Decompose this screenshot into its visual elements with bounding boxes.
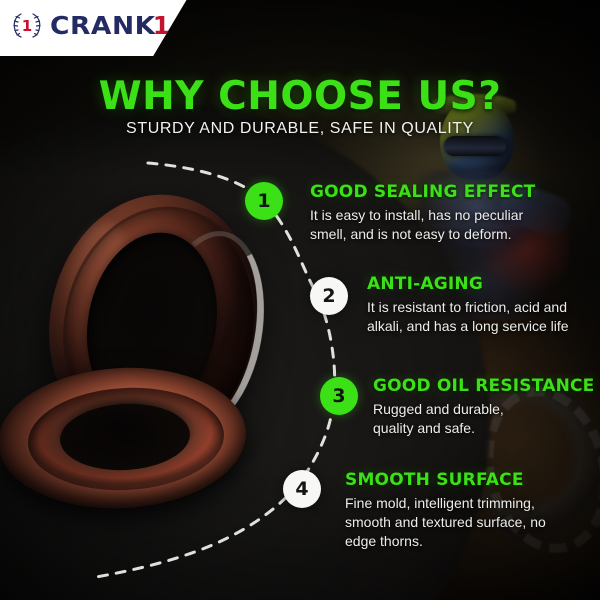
- feature-body-2: It is resistant to friction, acid and al…: [367, 298, 589, 336]
- feature-badge-2[interactable]: 2: [310, 277, 348, 315]
- feature-body-4: Fine mold, intelligent trimming, smooth …: [345, 494, 590, 551]
- brand-name: CRANK: [50, 13, 156, 38]
- page-title: WHY CHOOSE US?: [0, 74, 600, 119]
- feature-number-2: 2: [322, 287, 335, 306]
- feature-body-1: It is easy to install, has no peculiar s…: [310, 206, 580, 244]
- feature-item-4: SMOOTH SURFACE Fine mold, intelligent tr…: [345, 470, 590, 551]
- feature-title-3: GOOD OIL RESISTANCE: [373, 376, 591, 396]
- feature-title-1: GOOD SEALING EFFECT: [310, 182, 580, 202]
- feature-number-3: 3: [332, 387, 345, 406]
- helmet-visor: [444, 136, 506, 156]
- infographic-poster: 1 CRANK 1 WHY CHOOSE US? STURDY AND DURA…: [0, 0, 600, 600]
- feature-title-4: SMOOTH SURFACE: [345, 470, 590, 490]
- wreath-number: 1: [22, 17, 32, 35]
- feature-body-3: Rugged and durable, quality and safe.: [373, 400, 591, 438]
- page-subtitle: STURDY AND DURABLE, SAFE IN QUALITY: [0, 120, 600, 138]
- feature-badge-4[interactable]: 4: [283, 470, 321, 508]
- product-image-oil-seals: [2, 186, 264, 516]
- feature-title-2: ANTI-AGING: [367, 274, 589, 294]
- feature-number-4: 4: [295, 480, 308, 499]
- feature-item-3: GOOD OIL RESISTANCE Rugged and durable, …: [373, 376, 591, 438]
- laurel-wreath-icon: 1: [10, 10, 44, 40]
- feature-item-1: GOOD SEALING EFFECT It is easy to instal…: [310, 182, 580, 244]
- feature-number-1: 1: [257, 192, 270, 211]
- feature-badge-3[interactable]: 3: [320, 377, 358, 415]
- feature-item-2: ANTI-AGING It is resistant to friction, …: [367, 274, 589, 336]
- brand-logo: 1 CRANK 1: [10, 10, 170, 40]
- feature-badge-1[interactable]: 1: [245, 182, 283, 220]
